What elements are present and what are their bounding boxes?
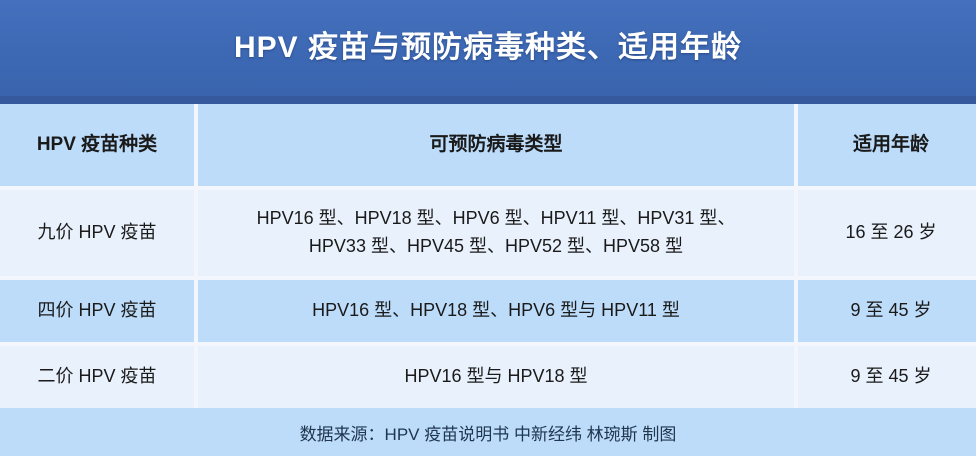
cell-vaccine-type: 四价 HPV 疫苗 bbox=[0, 280, 194, 342]
infographic-root: HPV 疫苗与预防病毒种类、适用年龄 HPV 疫苗种类 可预防病毒类型 适用年龄… bbox=[0, 0, 976, 456]
header-cell-vaccine-type: HPV 疫苗种类 bbox=[0, 104, 194, 186]
table-row: 二价 HPV 疫苗 HPV16 型与 HPV18 型 9 至 45 岁 bbox=[0, 346, 976, 408]
table-header-row: HPV 疫苗种类 可预防病毒类型 适用年龄 bbox=[0, 104, 976, 186]
virus-types-lines: HPV16 型、HPV18 型、HPV6 型、HPV11 型、HPV31 型、 … bbox=[206, 205, 786, 261]
cell-virus-types: HPV16 型、HPV18 型、HPV6 型与 HPV11 型 bbox=[198, 280, 794, 342]
cell-virus-types: HPV16 型与 HPV18 型 bbox=[198, 346, 794, 408]
cell-vaccine-type: 九价 HPV 疫苗 bbox=[0, 190, 194, 276]
source-credit-text: 数据来源：HPV 疫苗说明书 中新经纬 林琬斯 制图 bbox=[300, 420, 677, 445]
page-title: HPV 疫苗与预防病毒种类、适用年龄 bbox=[234, 33, 742, 63]
cell-age-range: 9 至 45 岁 bbox=[798, 346, 976, 408]
source-footer: 数据来源：HPV 疫苗说明书 中新经纬 林琬斯 制图 bbox=[0, 408, 976, 456]
table-row: 四价 HPV 疫苗 HPV16 型、HPV18 型、HPV6 型与 HPV11 … bbox=[0, 280, 976, 342]
cell-age-range: 16 至 26 岁 bbox=[798, 190, 976, 276]
cell-vaccine-type: 二价 HPV 疫苗 bbox=[0, 346, 194, 408]
table-row: 九价 HPV 疫苗 HPV16 型、HPV18 型、HPV6 型、HPV11 型… bbox=[0, 190, 976, 276]
virus-types-line-2: HPV33 型、HPV45 型、HPV52 型、HPV58 型 bbox=[206, 233, 786, 261]
cell-virus-types: HPV16 型、HPV18 型、HPV6 型、HPV11 型、HPV31 型、 … bbox=[198, 190, 794, 276]
header-cell-virus-types: 可预防病毒类型 bbox=[198, 104, 794, 186]
cell-age-range: 9 至 45 岁 bbox=[798, 280, 976, 342]
header-cell-age-range: 适用年龄 bbox=[798, 104, 976, 186]
title-banner: HPV 疫苗与预防病毒种类、适用年龄 bbox=[0, 0, 976, 96]
hpv-vaccine-table: HPV 疫苗种类 可预防病毒类型 适用年龄 九价 HPV 疫苗 HPV16 型、… bbox=[0, 104, 976, 408]
banner-underline-strip bbox=[0, 96, 976, 104]
virus-types-line-1: HPV16 型、HPV18 型、HPV6 型、HPV11 型、HPV31 型、 bbox=[206, 205, 786, 233]
